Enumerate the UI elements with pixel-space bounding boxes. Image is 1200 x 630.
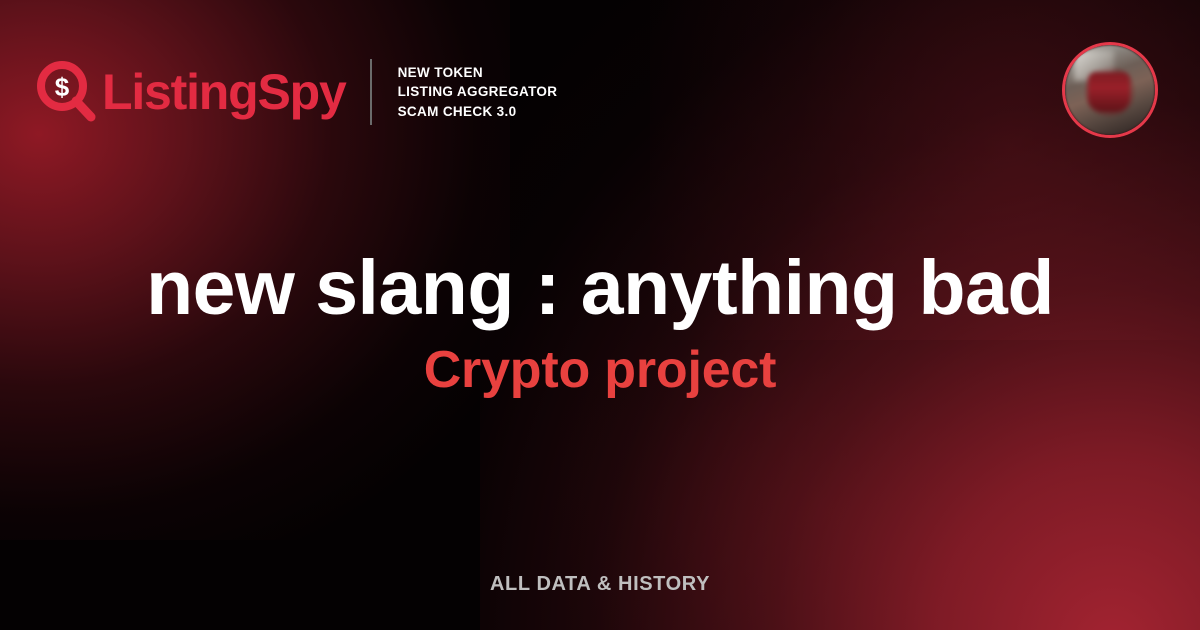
header-divider bbox=[370, 59, 372, 125]
magnifier-dollar-icon: $ bbox=[36, 61, 98, 123]
page-subtitle: Crypto project bbox=[0, 342, 1200, 399]
brand-wordmark: ListingSpy bbox=[102, 67, 346, 117]
avatar-image bbox=[1065, 45, 1155, 135]
tagline-line-1: NEW TOKEN bbox=[398, 63, 558, 82]
svg-text:$: $ bbox=[55, 72, 70, 102]
avatar[interactable] bbox=[1062, 42, 1158, 138]
brand-header[interactable]: $ ListingSpy NEW TOKEN LISTING AGGREGATO… bbox=[36, 52, 557, 132]
footer-caption: ALL DATA & HISTORY bbox=[0, 573, 1200, 596]
hero-block: new slang : anything bad Crypto project bbox=[0, 248, 1200, 399]
brand-tagline: NEW TOKEN LISTING AGGREGATOR SCAM CHECK … bbox=[398, 63, 558, 120]
banner-canvas: $ ListingSpy NEW TOKEN LISTING AGGREGATO… bbox=[0, 0, 1200, 630]
tagline-line-3: SCAM CHECK 3.0 bbox=[398, 102, 558, 121]
tagline-line-2: LISTING AGGREGATOR bbox=[398, 82, 558, 101]
page-title: new slang : anything bad bbox=[0, 248, 1200, 330]
